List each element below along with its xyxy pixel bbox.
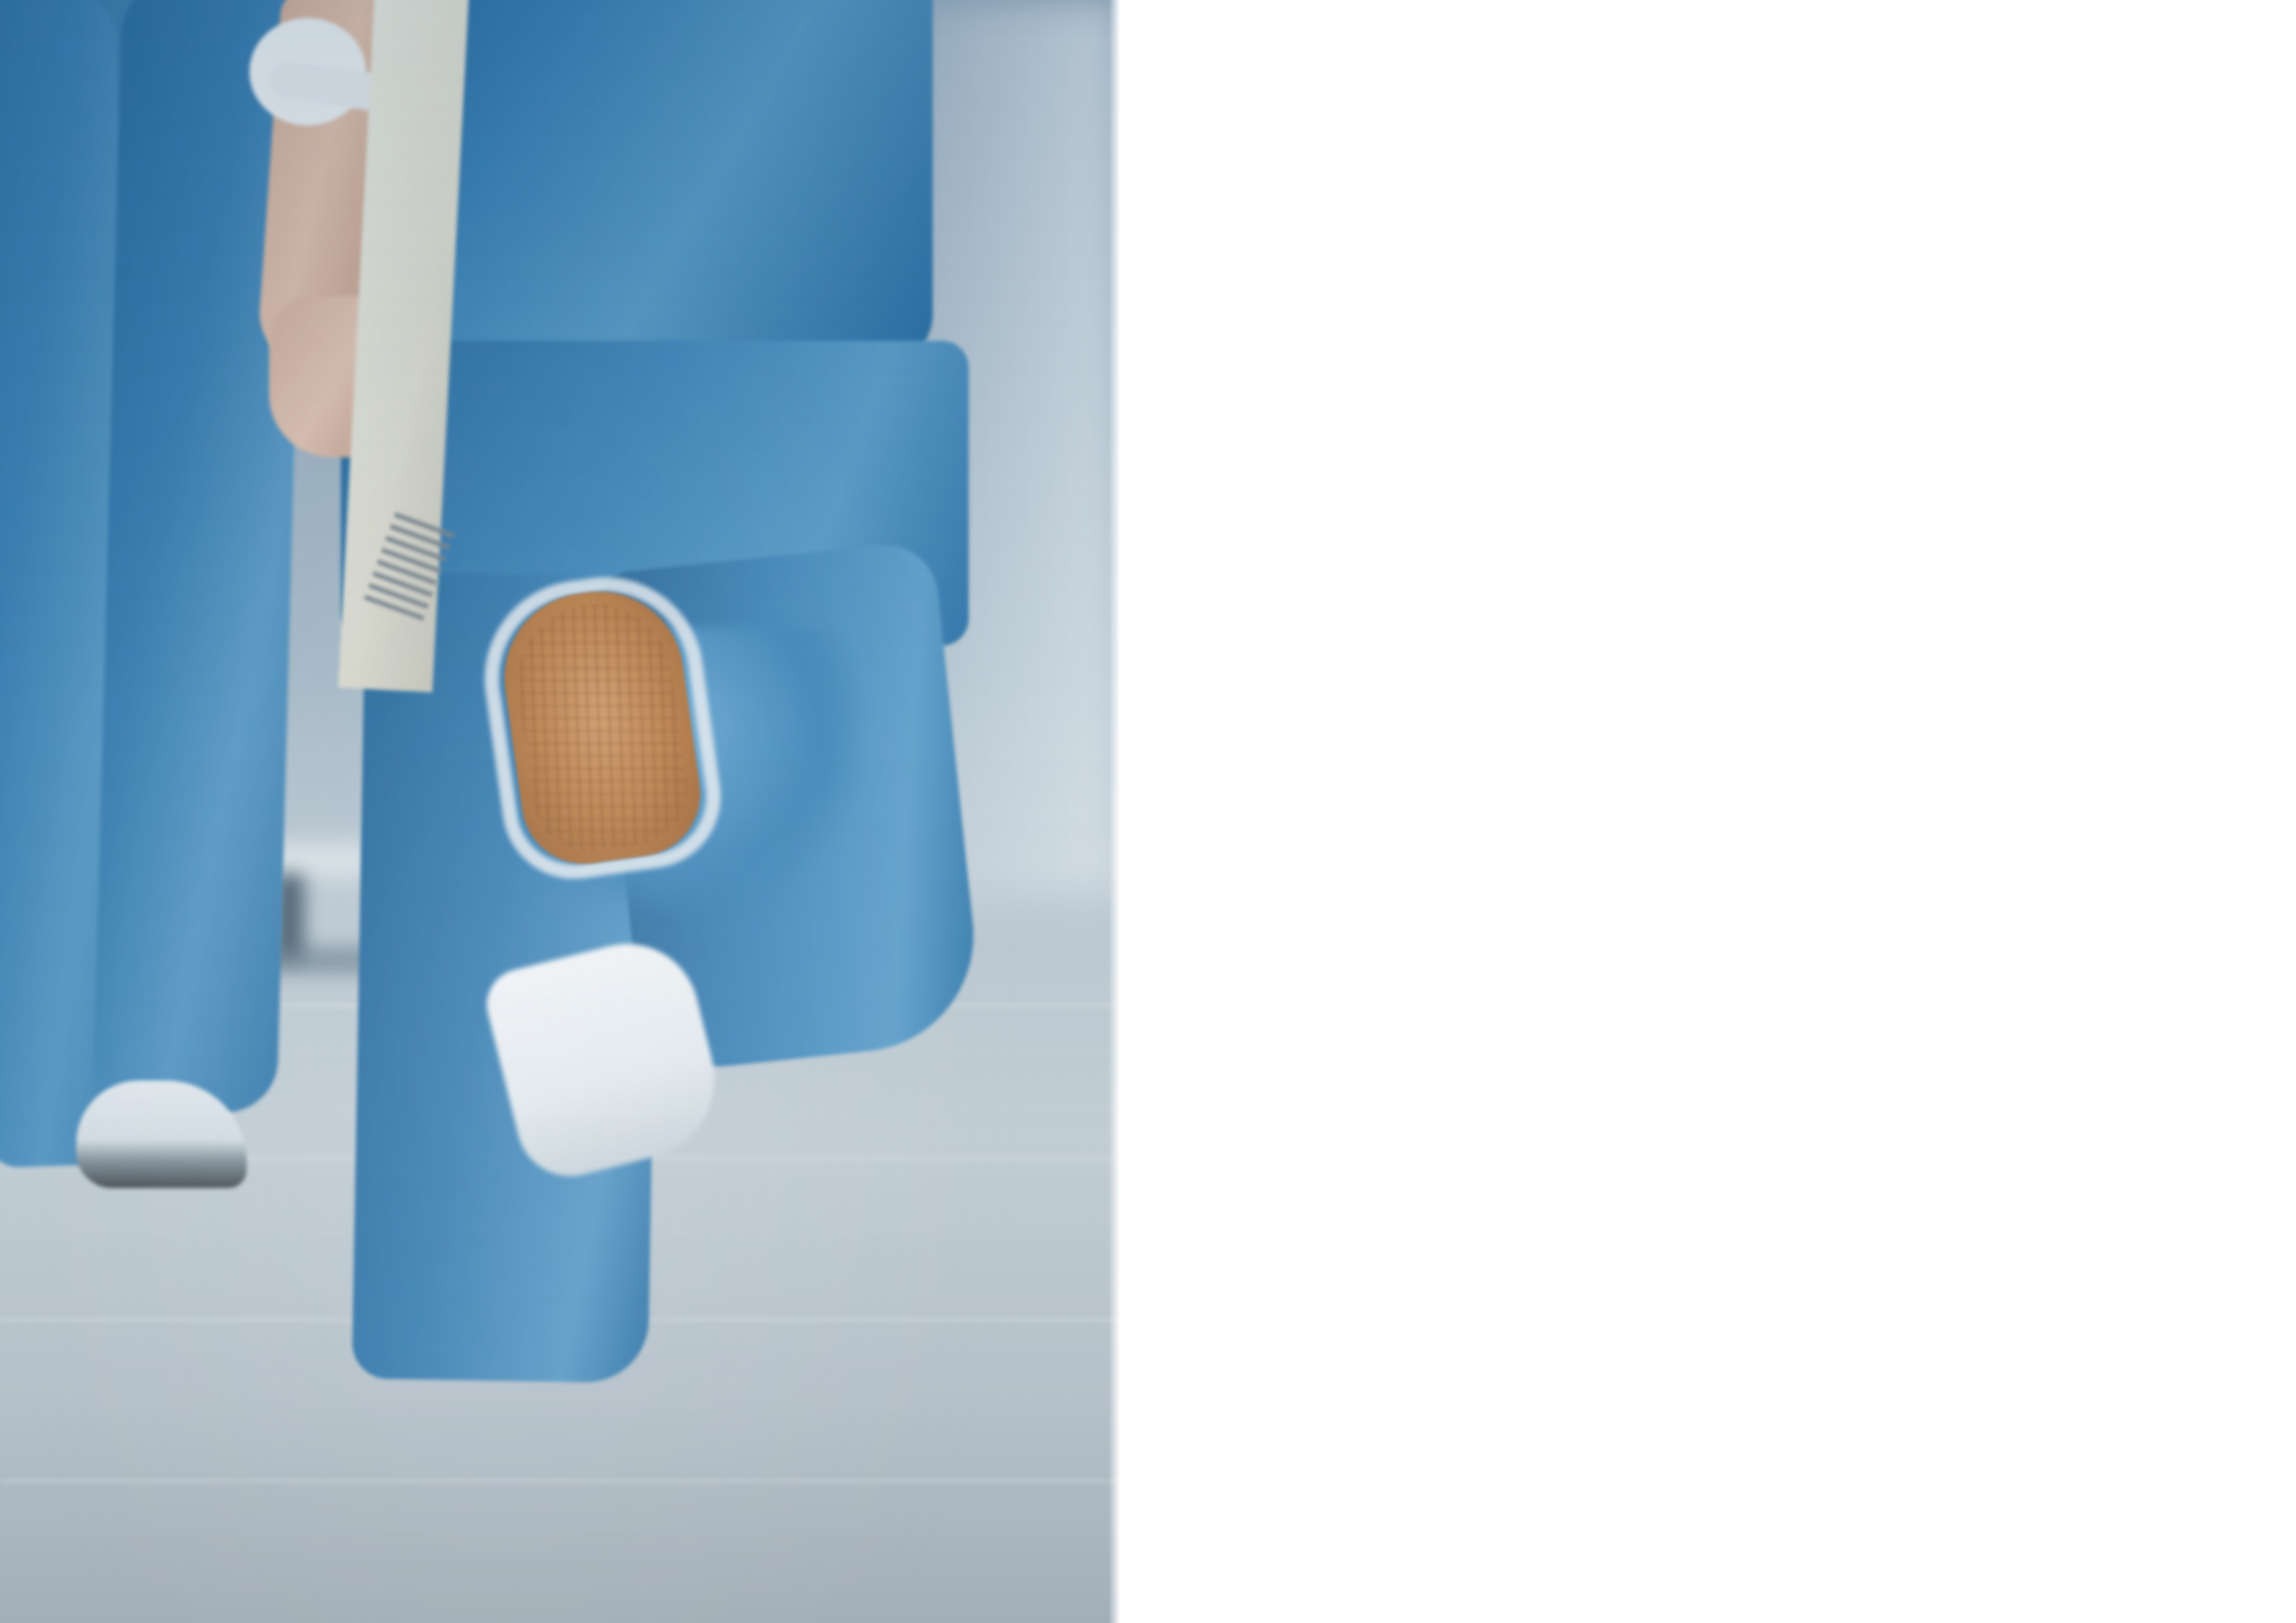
photo-soft-light (0, 0, 1121, 1623)
content-panel: Programa (provisional) 09:45-10:20 Acred… (1121, 0, 2296, 1623)
photo-right-fade (1109, 0, 1121, 1623)
hospital-corridor-photo (0, 0, 1121, 1623)
programa-slide: Programa (provisional) 09:45-10:20 Acred… (0, 0, 2296, 1623)
